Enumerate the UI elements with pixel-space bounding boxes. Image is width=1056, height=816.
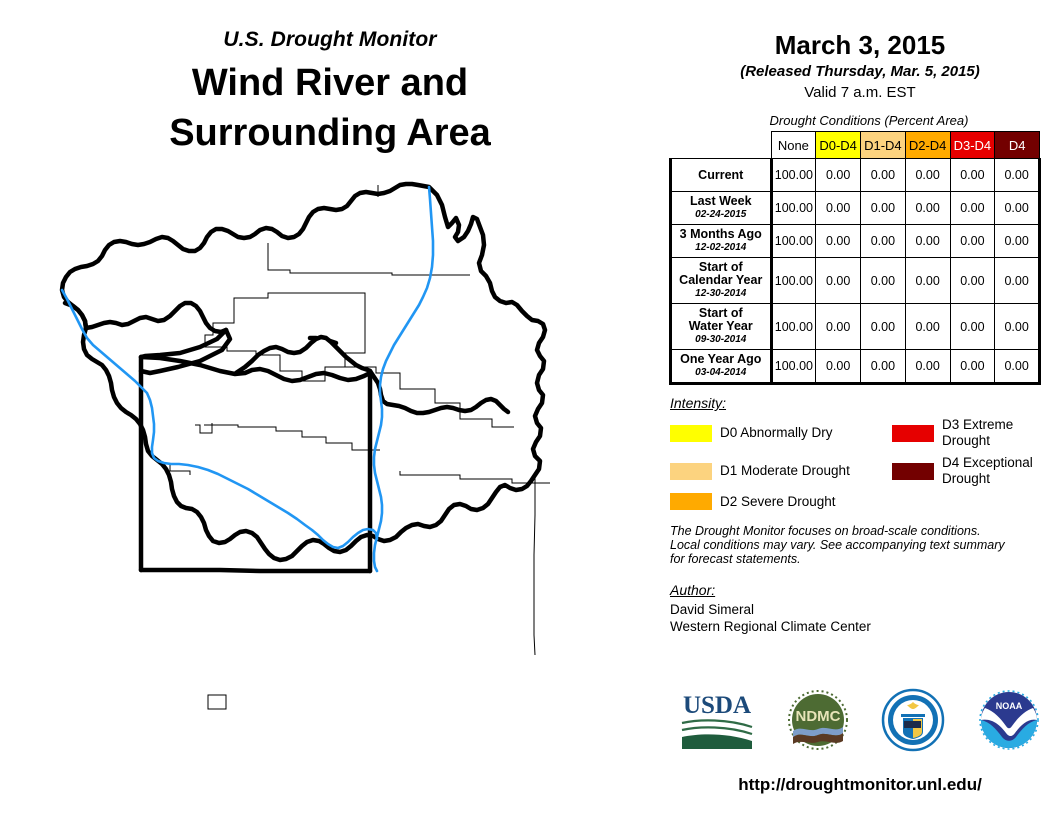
table-row: One Year Ago 03-04-2014 100.00 0.00 0.00…: [671, 350, 1040, 384]
date-block: March 3, 2015 (Released Thursday, Mar. 5…: [664, 0, 1056, 103]
legend-grid: D0 Abnormally Dry D3 Extreme Drought D1 …: [670, 417, 1056, 510]
legend-item-d0: D0 Abnormally Dry: [670, 417, 892, 449]
cell-d2-d4: 0.00: [905, 225, 950, 258]
disclaimer-line-2: Local conditions may vary. See accompany…: [670, 538, 1056, 552]
cell-none: 100.00: [771, 304, 816, 350]
table-row: Last Week 02-24-2015 100.00 0.00 0.00 0.…: [671, 192, 1040, 225]
legend-label-d1: D1 Moderate Drought: [720, 463, 850, 479]
cell-d2-d4: 0.00: [905, 159, 950, 192]
cell-d4: 0.00: [995, 225, 1040, 258]
table-body: Current 100.00 0.00 0.00 0.00 0.00 0.00 …: [671, 159, 1040, 384]
row-label-date: 02-24-2015: [674, 208, 768, 221]
region-title: Wind River and Surrounding Area: [0, 58, 660, 158]
cell-d2-d4: 0.00: [905, 304, 950, 350]
site-url[interactable]: http://droughtmonitor.unl.edu/: [664, 775, 1056, 795]
cell-d0-d4: 0.00: [816, 225, 861, 258]
intensity-legend: Intensity: D0 Abnormally Dry D3 Extreme …: [670, 395, 1056, 510]
legend-label-d3: D3 Extreme Drought: [942, 417, 1056, 449]
cell-none: 100.00: [771, 350, 816, 384]
cell-none: 100.00: [771, 192, 816, 225]
row-label-date: 09-30-2014: [674, 333, 768, 346]
cell-d1-d4: 0.00: [861, 258, 906, 304]
title-block: U.S. Drought Monitor Wind River and Surr…: [0, 28, 660, 158]
table-row: Start of Calendar Year 12-30-2014 100.00…: [671, 258, 1040, 304]
dm-supertitle: U.S. Drought Monitor: [0, 28, 660, 52]
map-region-fill: [62, 184, 545, 560]
cell-d0-d4: 0.00: [816, 192, 861, 225]
row-label-name: Start of Calendar Year: [674, 261, 768, 287]
row-label-current: Current: [671, 159, 772, 192]
legend-swatch-d3: [892, 425, 934, 442]
legend-label-d2: D2 Severe Drought: [720, 494, 836, 510]
legend-swatch-d2: [670, 493, 712, 510]
cell-d1-d4: 0.00: [861, 350, 906, 384]
legend-label-d4: D4 Exceptional Drought: [942, 455, 1056, 487]
intensity-title: Intensity:: [670, 395, 1056, 411]
region-title-line1: Wind River and: [0, 58, 660, 108]
legend-swatch-d4: [892, 463, 934, 480]
cell-none: 100.00: [771, 225, 816, 258]
row-label-name: Start of Water Year: [674, 307, 768, 333]
usda-logo: USDA: [680, 689, 754, 756]
column-header-d2-d4: D2-D4: [905, 132, 950, 159]
author-block: Author: David Simeral Western Regional C…: [670, 582, 1056, 635]
row-label-name: One Year Ago: [674, 353, 768, 366]
legend-swatch-d1: [670, 463, 712, 480]
cell-d4: 0.00: [995, 350, 1040, 384]
disclaimer-line-1: The Drought Monitor focuses on broad-sca…: [670, 524, 1056, 538]
legend-item-d4: D4 Exceptional Drought: [892, 455, 1056, 487]
legend-item-d2: D2 Severe Drought: [670, 493, 892, 510]
row-label-date: 03-04-2014: [674, 366, 768, 379]
legend-swatch-d0: [670, 425, 712, 442]
cell-d3-d4: 0.00: [950, 350, 995, 384]
logo-row: USDA NDMC: [664, 688, 1056, 757]
cell-d0-d4: 0.00: [816, 258, 861, 304]
row-label-one-year-ago: One Year Ago 03-04-2014: [671, 350, 772, 384]
cell-d4: 0.00: [995, 159, 1040, 192]
cell-d3-d4: 0.00: [950, 225, 995, 258]
author-affiliation: Western Regional Climate Center: [670, 618, 1056, 635]
svg-text:NDMC: NDMC: [795, 708, 840, 725]
row-label-date: 12-30-2014: [674, 287, 768, 300]
author-name: David Simeral: [670, 601, 1056, 618]
disclaimer-line-3: for forecast statements.: [670, 552, 1056, 566]
noaa-logo: NOAA: [978, 689, 1040, 756]
cell-d4: 0.00: [995, 192, 1040, 225]
row-label-start-of-water-year: Start of Water Year 09-30-2014: [671, 304, 772, 350]
svg-text:NOAA: NOAA: [996, 701, 1023, 711]
cell-d1-d4: 0.00: [861, 192, 906, 225]
cell-d3-d4: 0.00: [950, 192, 995, 225]
legend-label-d0: D0 Abnormally Dry: [720, 425, 833, 441]
table-row: Current 100.00 0.00 0.00 0.00 0.00 0.00: [671, 159, 1040, 192]
column-header-d4: D4: [995, 132, 1040, 159]
cell-d4: 0.00: [995, 258, 1040, 304]
right-panel: March 3, 2015 (Released Thursday, Mar. 5…: [664, 0, 1056, 816]
cell-none: 100.00: [771, 258, 816, 304]
cell-d2-d4: 0.00: [905, 350, 950, 384]
cell-d1-d4: 0.00: [861, 159, 906, 192]
table-corner-cell: [671, 132, 772, 159]
row-label-name: Last Week: [674, 195, 768, 208]
table-row: Start of Water Year 09-30-2014 100.00 0.…: [671, 304, 1040, 350]
cell-d3-d4: 0.00: [950, 304, 995, 350]
cell-none: 100.00: [771, 159, 816, 192]
table-header-row: None D0-D4 D1-D4 D2-D4 D3-D4 D4: [671, 132, 1040, 159]
column-header-d1-d4: D1-D4: [861, 132, 906, 159]
legend-grid-spacer: [892, 493, 1056, 510]
cell-d0-d4: 0.00: [816, 159, 861, 192]
cell-d0-d4: 0.00: [816, 304, 861, 350]
drought-map: [40, 175, 660, 735]
table-caption: Drought Conditions (Percent Area): [682, 113, 1056, 128]
row-label-name: 3 Months Ago: [674, 228, 768, 241]
cell-d1-d4: 0.00: [861, 304, 906, 350]
cell-d1-d4: 0.00: [861, 225, 906, 258]
row-label-date: 12-02-2014: [674, 241, 768, 254]
doc-seal-logo: [881, 688, 945, 757]
table-header: None D0-D4 D1-D4 D2-D4 D3-D4 D4: [671, 132, 1040, 159]
disclaimer-text: The Drought Monitor focuses on broad-sca…: [670, 524, 1056, 566]
released-date: (Released Thursday, Mar. 5, 2015): [664, 62, 1056, 82]
table-row: 3 Months Ago 12-02-2014 100.00 0.00 0.00…: [671, 225, 1040, 258]
drought-conditions-table: None D0-D4 D1-D4 D2-D4 D3-D4 D4 Current …: [669, 131, 1041, 385]
legend-item-d3: D3 Extreme Drought: [892, 417, 1056, 449]
column-header-d3-d4: D3-D4: [950, 132, 995, 159]
cell-d2-d4: 0.00: [905, 258, 950, 304]
svg-text:USDA: USDA: [683, 692, 751, 719]
row-label-last-week: Last Week 02-24-2015: [671, 192, 772, 225]
row-label-start-of-calendar-year: Start of Calendar Year 12-30-2014: [671, 258, 772, 304]
column-header-none: None: [771, 132, 816, 159]
cell-d3-d4: 0.00: [950, 258, 995, 304]
author-title: Author:: [670, 582, 1056, 598]
ndmc-logo: NDMC: [787, 689, 849, 756]
valid-date: March 3, 2015: [664, 30, 1056, 60]
row-label-name: Current: [674, 169, 768, 182]
valid-time: Valid 7 a.m. EST: [664, 83, 1056, 103]
cell-d0-d4: 0.00: [816, 350, 861, 384]
cell-d4: 0.00: [995, 304, 1040, 350]
column-header-d0-d4: D0-D4: [816, 132, 861, 159]
cell-d2-d4: 0.00: [905, 192, 950, 225]
row-label-3-months-ago: 3 Months Ago 12-02-2014: [671, 225, 772, 258]
cell-d3-d4: 0.00: [950, 159, 995, 192]
legend-item-d1: D1 Moderate Drought: [670, 455, 892, 487]
region-title-line2: Surrounding Area: [0, 108, 660, 158]
